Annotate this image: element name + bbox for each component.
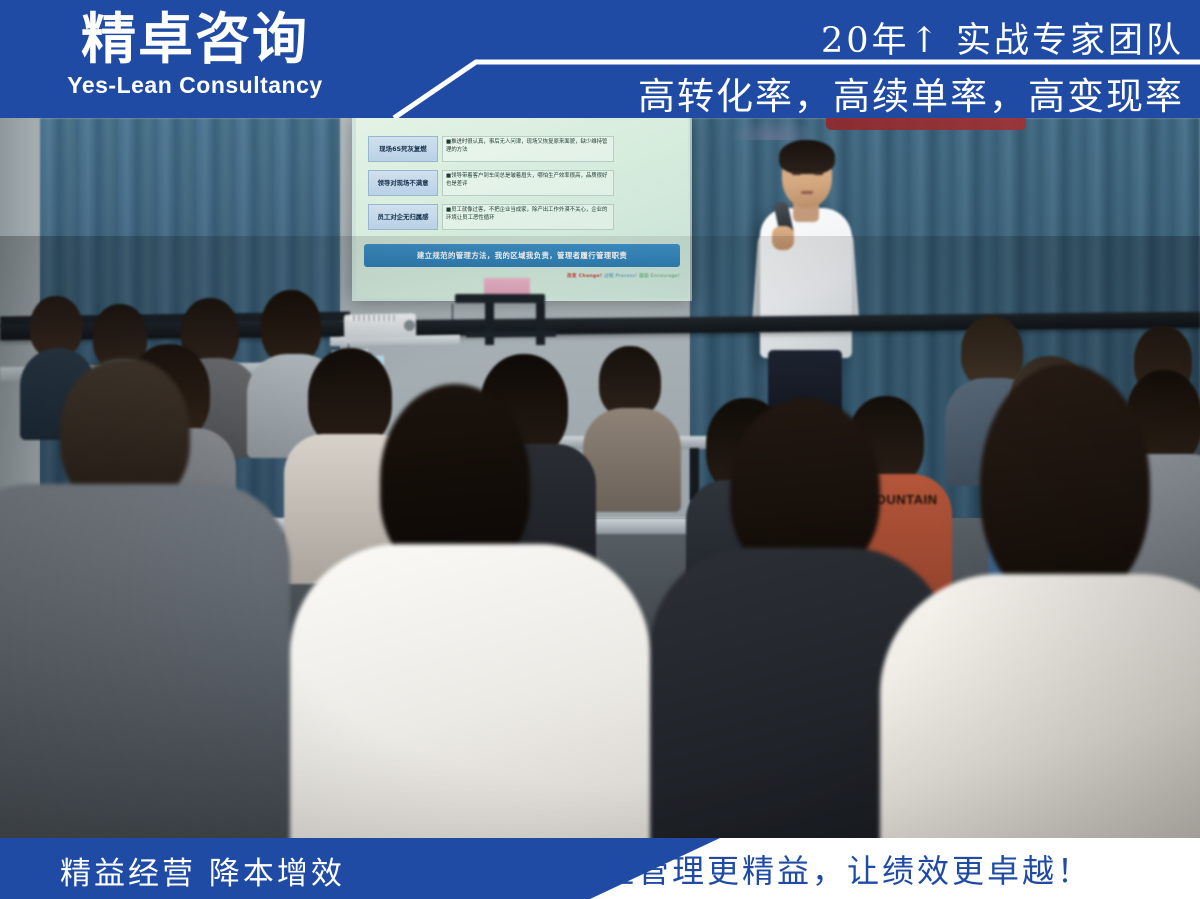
photo-classroom: 现场6S死灰复燃 ■推进时很认真，事后无人问津，现场又恢复原来面貌，缺少维持管理…	[0, 118, 1200, 838]
logo-english-name: Yes-Lean Consultancy	[30, 72, 360, 99]
person-body	[290, 544, 650, 838]
poster-image: 现场6S死灰复燃 ■推进时很认真，事后无人问津，现场又恢复原来面貌，缺少维持管理…	[0, 0, 1200, 899]
header-bar: 精卓咨询 Yes-Lean Consultancy 20年↑ 实战专家团队 高转…	[0, 0, 1200, 118]
footer-slogan-left: 精益经营 降本增效	[60, 848, 345, 893]
logo-chinese-name: 精卓咨询	[30, 8, 360, 71]
audience-row-front	[0, 118, 1200, 838]
brand-logo: 精卓咨询 Yes-Lean Consultancy	[30, 8, 360, 99]
person-body	[0, 484, 290, 838]
person-body	[880, 574, 1200, 838]
footer-bar: 精益经营 降本增效 让管理更精益，让绩效更卓越！	[0, 838, 1200, 899]
header-tagline-bottom: 高转化率，高续单率，高变现率	[638, 66, 1184, 118]
footer-slogan-right: 让管理更精益，让绩效更卓越！	[602, 846, 1092, 892]
header-tagline-top: 20年↑ 实战专家团队	[821, 12, 1184, 63]
person-head	[980, 364, 1150, 604]
